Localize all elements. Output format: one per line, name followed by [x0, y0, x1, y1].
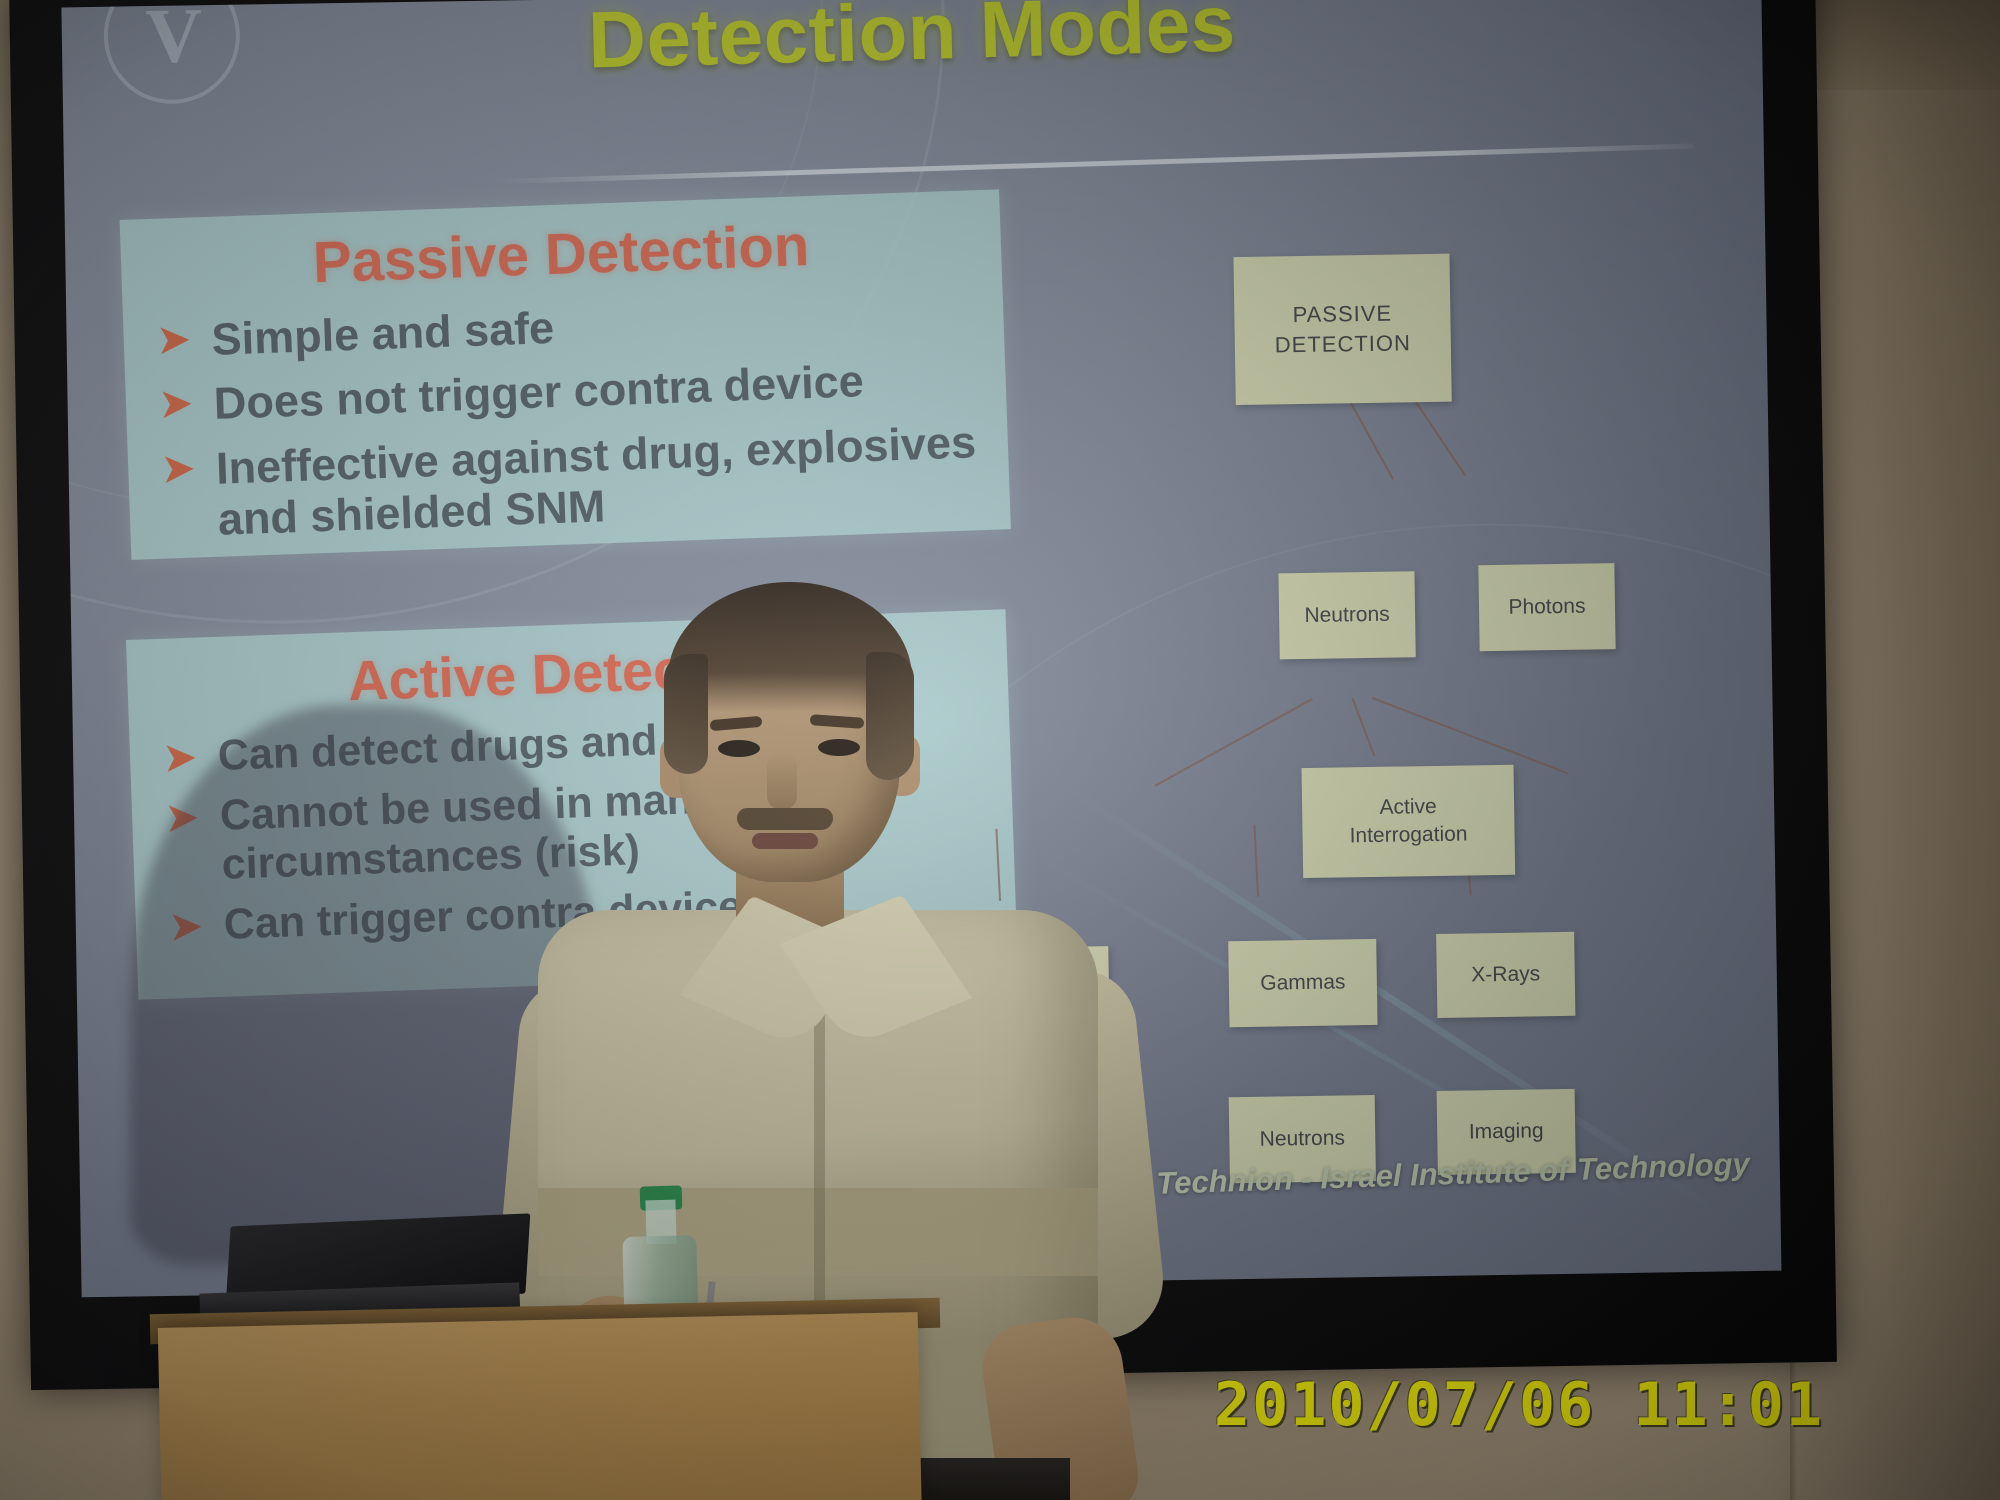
- camera-timestamp: 2010/07/06 11:01: [1214, 1370, 1824, 1440]
- flow-edge: [1399, 377, 1466, 476]
- flow-node-passive-root: PASSIVE DETECTION: [1233, 254, 1451, 405]
- mouth: [752, 833, 818, 849]
- flow-edge: [1463, 821, 1471, 895]
- eye-left: [718, 740, 760, 757]
- mustache: [737, 808, 833, 830]
- flow-node-out-imaging: Imaging: [1437, 1089, 1576, 1175]
- title-divider: [494, 143, 1694, 184]
- nose: [767, 752, 797, 810]
- bullet-text: Simple and safe: [211, 302, 555, 365]
- photograph: V Detection Modes Passive Detection ➤ Si…: [0, 0, 2000, 1500]
- logo-glyph: V: [145, 0, 199, 81]
- flow-node-passive-neutrons: Neutrons: [1278, 571, 1415, 659]
- passive-detection-panel: Passive Detection ➤ Simple and safe ➤ Do…: [120, 189, 1011, 560]
- eye-right: [818, 739, 860, 756]
- flow-edge: [1337, 378, 1394, 480]
- bullet-arrow-icon: ➤: [163, 737, 196, 781]
- flow-node-passive-photons: Photons: [1478, 563, 1615, 651]
- flow-edge: [1253, 825, 1259, 897]
- flow-node-out-neutrons: Neutrons: [1229, 1095, 1376, 1183]
- wooden-podium: [158, 1312, 922, 1500]
- flow-edge: [1372, 697, 1569, 774]
- bullet-arrow-icon: ➤: [162, 447, 195, 491]
- slide-title: Detection Modes: [61, 0, 1762, 100]
- flow-node-active-xrays: X-Rays: [1436, 932, 1575, 1018]
- bullet-text: Ineffective against drug, explosives and…: [215, 416, 978, 545]
- hair-right: [866, 652, 914, 780]
- passive-detection-heading: Passive Detection: [120, 205, 1002, 303]
- technion-logo-icon: V: [103, 0, 241, 105]
- passive-detection-bullets: ➤ Simple and safe ➤ Does not trigger con…: [157, 286, 1011, 547]
- flow-node-active-root: Active Interrogation: [1301, 765, 1515, 878]
- list-item: ➤ Simple and safe: [157, 286, 1004, 367]
- bullet-arrow-icon: ➤: [159, 383, 192, 427]
- hair-left: [664, 654, 708, 774]
- list-item: ➤ Ineffective against drug, explosives a…: [161, 415, 1010, 547]
- slide-decoration-arc-2: [61, 0, 916, 613]
- flow-node-active-gammas: Gammas: [1228, 939, 1377, 1027]
- bullet-arrow-icon: ➤: [157, 319, 190, 363]
- list-item: ➤ Does not trigger contra device: [159, 351, 1006, 432]
- flow-edge: [1351, 698, 1375, 757]
- bullet-text: Does not trigger contra device: [213, 355, 865, 429]
